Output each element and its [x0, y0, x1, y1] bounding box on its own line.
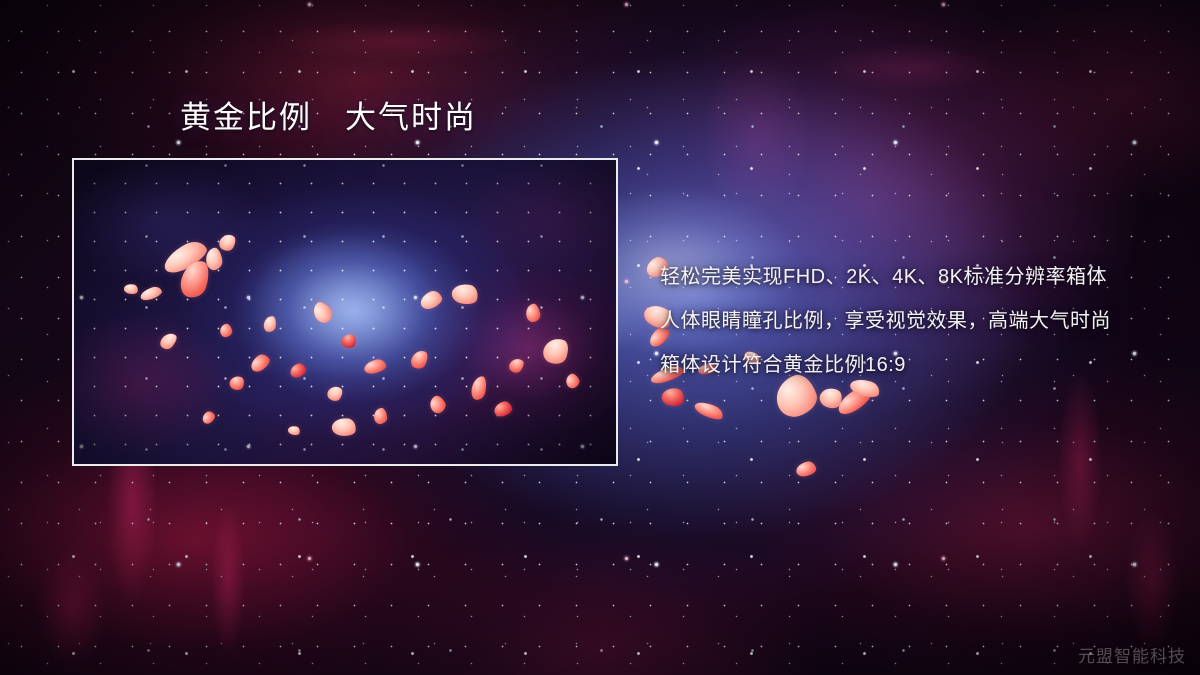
page-title: 黄金比例 大气时尚: [180, 100, 477, 137]
presentation-slide: 黄金比例 大气时尚: [0, 0, 1200, 675]
feature-line-resolution: 轻松完美实现FHD、2K、4K、8K标准分辨率箱体: [660, 255, 1180, 299]
company-watermark: 元盟智能科技: [1078, 642, 1186, 667]
feature-description-block: 轻松完美实现FHD、2K、4K、8K标准分辨率箱体 人体眼睛瞳孔比例，享受视觉效…: [660, 255, 1180, 387]
feature-line-golden-ratio: 箱体设计符合黄金比例16:9: [660, 343, 1180, 387]
preview-frame-16x9[interactable]: [72, 158, 618, 466]
feature-line-visual: 人体眼睛瞳孔比例，享受视觉效果，高端大气时尚: [660, 299, 1180, 343]
